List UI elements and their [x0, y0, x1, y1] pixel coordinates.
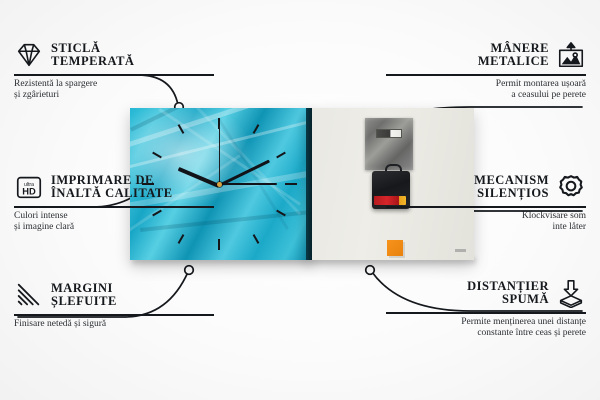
feature-title: IMPRIMARE DE ÎNALTĂ CALITATE [51, 174, 173, 201]
feature-polished-edges: MARGINI ȘLEFUITE Finisare netedă și sigu… [14, 280, 214, 330]
divider [386, 74, 586, 76]
movement-label [455, 249, 466, 252]
feature-subtitle: Rezistentă la spargere și zgârieturi [14, 79, 214, 101]
clock-tick [253, 234, 260, 244]
clock-tick [276, 152, 286, 159]
diamond-icon [14, 40, 44, 70]
feature-title: MÂNERE METALICE [478, 42, 549, 69]
infographic-canvas: STICLĂ TEMPERATĂ Rezistentă la spargere … [0, 0, 600, 400]
feature-silent-mechanism: MECANISM SILENȚIOS Klockvisare som inte … [386, 172, 586, 233]
feature-tempered-glass: STICLĂ TEMPERATĂ Rezistentă la spargere … [14, 40, 214, 101]
feature-metal-hangers: MÂNERE METALICE Permit montarea ușoară a… [386, 40, 586, 101]
divider [386, 206, 586, 208]
ultra-hd-icon: ultra HD [14, 172, 44, 202]
clock-hand-sweep [219, 183, 277, 185]
feature-subtitle: Culori intense și imagine clară [14, 211, 214, 233]
polished-edges-icon [14, 280, 44, 310]
feature-title: MECANISM SILENȚIOS [474, 174, 549, 201]
feature-subtitle: Permite menținerea unei distanțe constan… [386, 317, 586, 339]
divider [14, 206, 214, 208]
feature-foam-spacer: DISTANȚIER SPUMĂ Permite menținerea unei… [386, 278, 586, 339]
feature-title: STICLĂ TEMPERATĂ [51, 42, 134, 69]
clock-tick [178, 234, 185, 244]
clock-center-hub [217, 182, 222, 187]
divider [14, 314, 214, 316]
foam-spacer-pad [387, 240, 403, 256]
picture-hanger-icon [556, 40, 586, 70]
feature-print-quality: ultra HD IMPRIMARE DE ÎNALTĂ CALITATE Cu… [14, 172, 214, 233]
feature-subtitle: Klockvisare som inte låter [386, 211, 586, 233]
clock-hand-second [219, 126, 220, 184]
divider [386, 312, 586, 314]
hanger-slot [376, 129, 402, 138]
feature-subtitle: Permit montarea ușoară a ceasului pe per… [386, 79, 586, 101]
feature-subtitle: Finisare netedă și sigură [14, 319, 214, 330]
feature-title: DISTANȚIER SPUMĂ [467, 280, 549, 307]
hanger-plate [365, 118, 413, 170]
svg-text:HD: HD [22, 187, 36, 197]
divider [14, 74, 214, 76]
clock-tick [285, 183, 297, 185]
clock-tick [218, 239, 220, 250]
feature-title: MARGINI ȘLEFUITE [51, 282, 117, 309]
gear-icon [556, 172, 586, 202]
arrow-onto-pad-icon [556, 278, 586, 308]
